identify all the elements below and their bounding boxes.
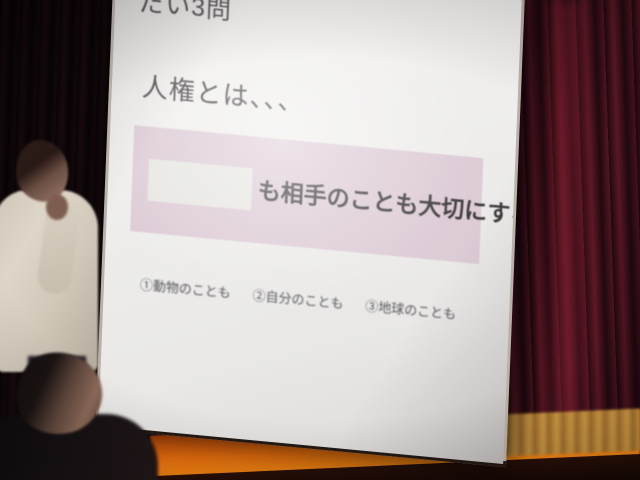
answer-banner: も相手のことも大切にすること (130, 125, 483, 264)
choice-option-3: ③地球のことも (365, 296, 457, 324)
banner-blank-box (147, 159, 252, 211)
curtain-sheen (542, 0, 594, 440)
slide-title: だい3問 (139, 0, 507, 53)
banner-sentence: も相手のことも大切にすること (257, 171, 521, 235)
standing-person (0, 138, 106, 370)
slide-lead-text: 人権とは、、、 (141, 67, 503, 138)
choice-list: ①動物のことも ②自分のことも ③地球のことも (140, 274, 496, 327)
presentation-slide: だい3問 人権とは、、、 も相手のことも大切にすること ①動物のことも ②自分の… (98, 0, 521, 464)
choice-option-2: ②自分のことも (252, 285, 344, 313)
screen-surface: だい3問 人権とは、、、 も相手のことも大切にすること ①動物のことも ②自分の… (98, 0, 521, 464)
projection-screen: だい3問 人権とは、、、 も相手のことも大切にすること ①動物のことも ②自分の… (95, 0, 525, 467)
standing-person-hand (46, 194, 68, 220)
photo-scene: だい3問 人権とは、、、 も相手のことも大切にすること ①動物のことも ②自分の… (0, 0, 640, 480)
choice-option-1: ①動物のことも (140, 274, 232, 302)
seated-person (0, 352, 154, 480)
